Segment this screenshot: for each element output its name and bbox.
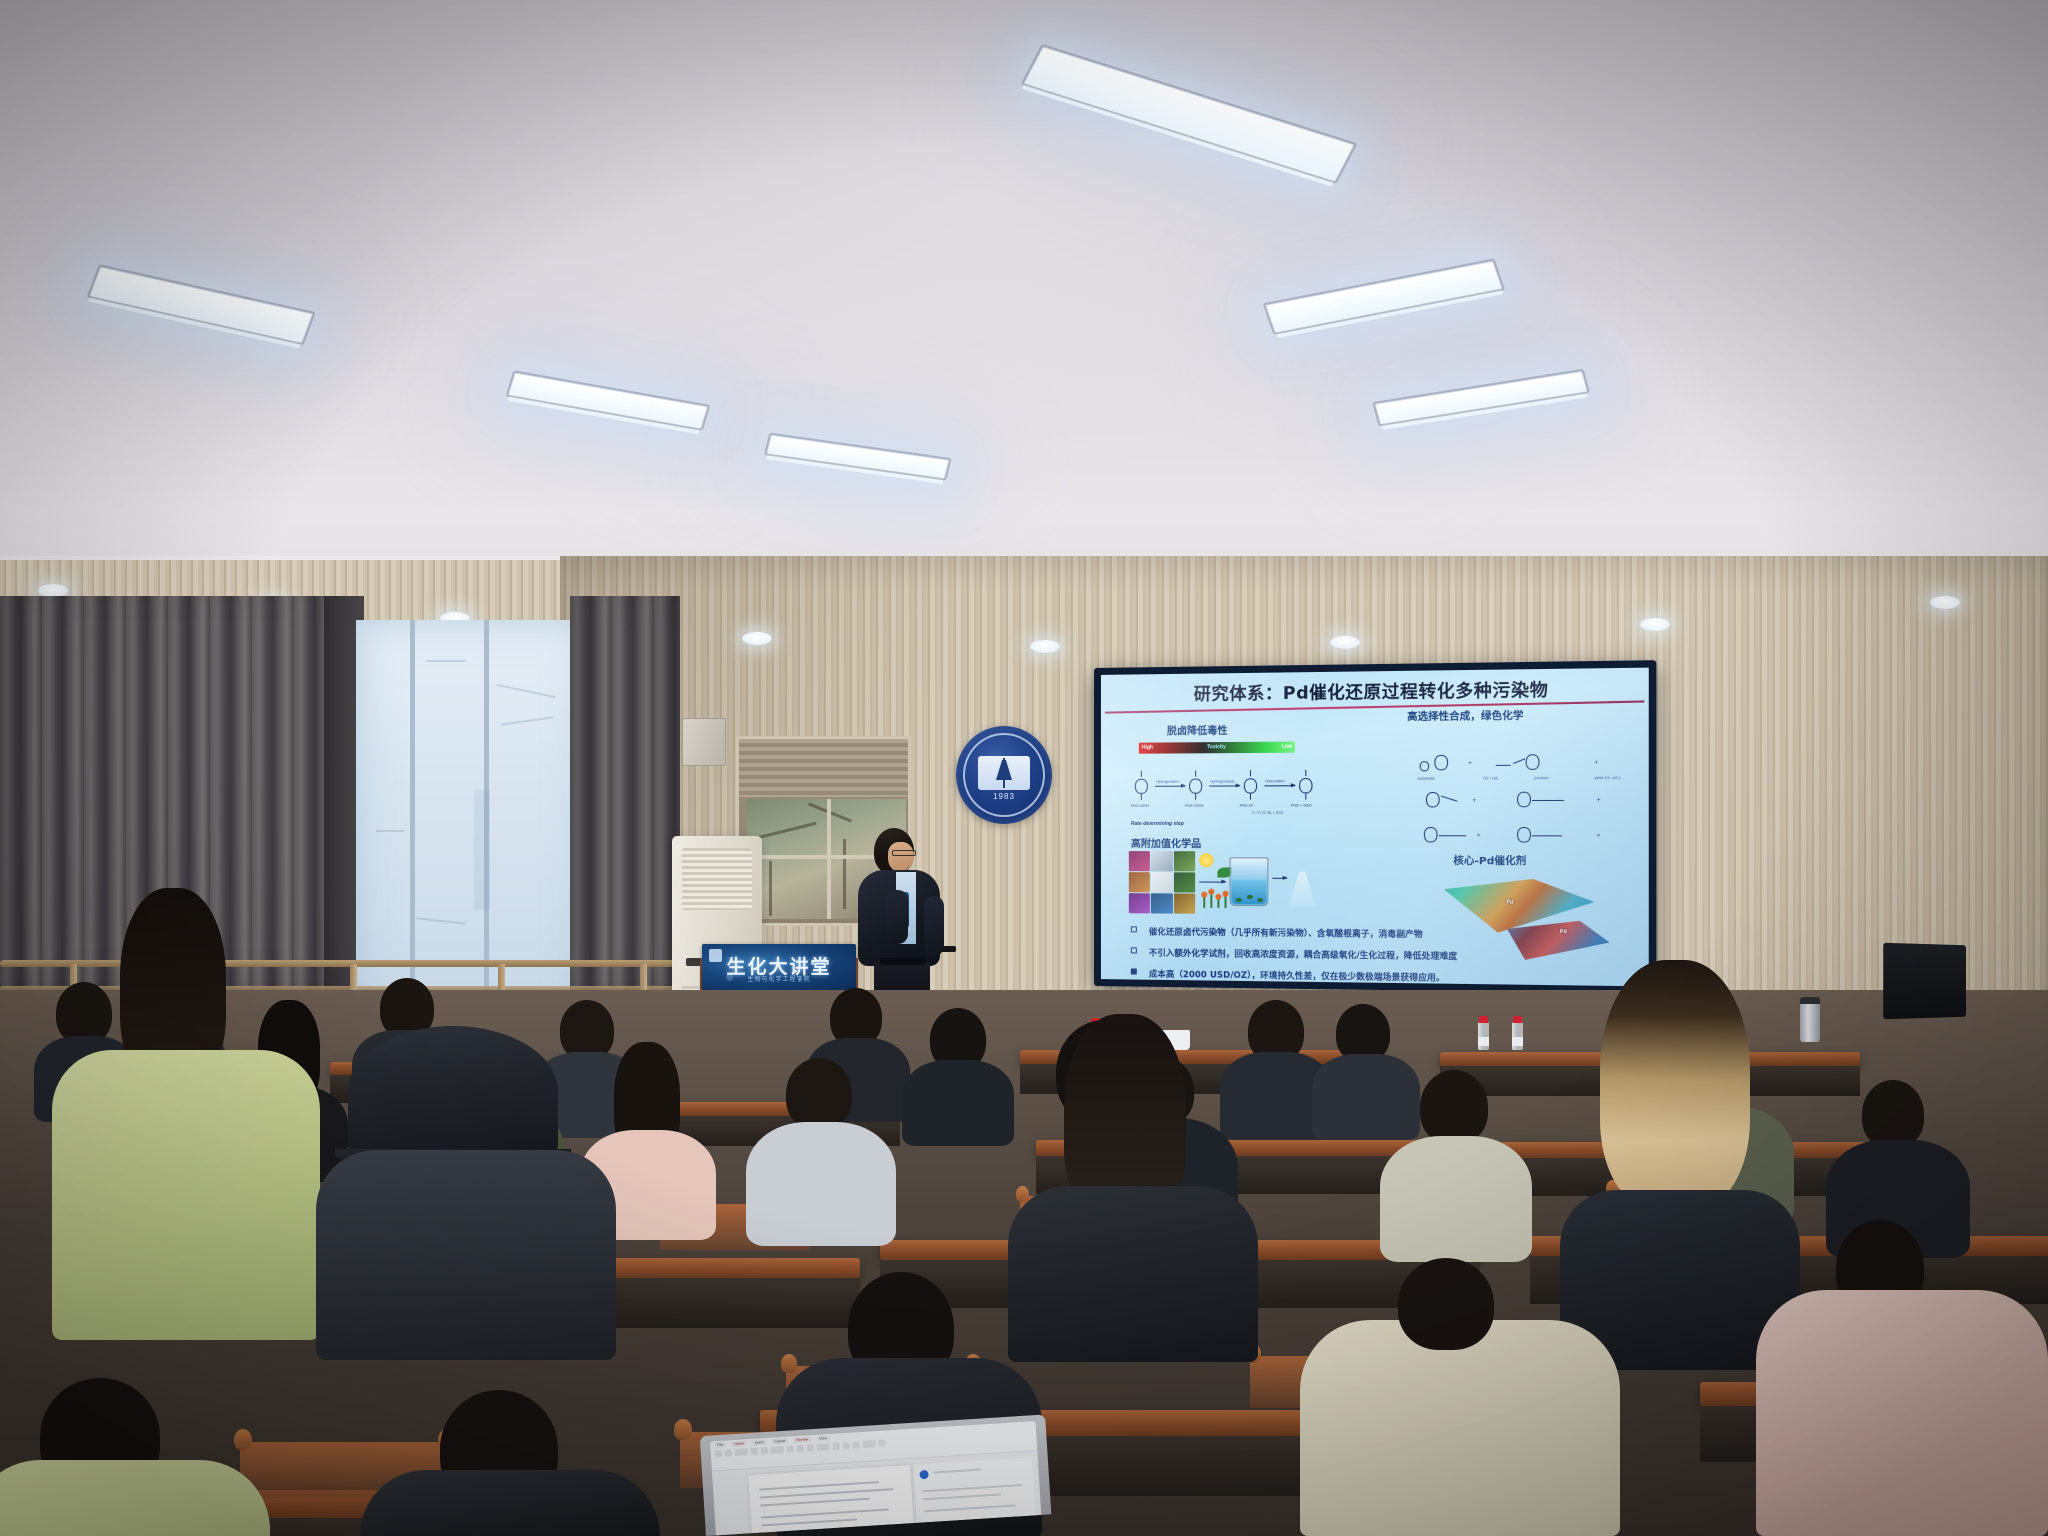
audience-body-green-coat <box>52 1050 320 1340</box>
slide-heading-core-catalyst: 核心-Pd催化剂 <box>1453 852 1526 868</box>
document-page[interactable] <box>748 1465 913 1533</box>
slide-surface: 研究体系：Pd催化还原过程转化多种污染物 脱卤降低毒性 High Toxicit… <box>1101 668 1649 987</box>
conical-flask-icon <box>1289 872 1316 907</box>
ribbon-tab[interactable]: Layout <box>771 1438 788 1445</box>
steel-tumbler <box>1800 1002 1820 1042</box>
audience-body <box>0 1460 270 1536</box>
audience-head <box>560 1000 614 1060</box>
downlight-5 <box>742 632 772 645</box>
molecule-table: substrate H2 / cat. product yield (%, se… <box>1407 729 1638 853</box>
sun-icon <box>1199 853 1213 867</box>
ribbon-tab[interactable]: File <box>714 1442 726 1449</box>
wall-electrical-panel <box>682 718 726 766</box>
audience-body <box>1312 1054 1420 1140</box>
speaker-belt <box>880 958 926 965</box>
water-bottle <box>1478 1022 1489 1050</box>
downlight-9 <box>1930 596 1960 609</box>
control-monitor <box>1883 943 1966 1020</box>
slide-bullet-list: 催化还原卤代污染物（几乎所有新污染物）、含氧酸根离子，消毒副产物 不引入额外化学… <box>1127 925 1631 986</box>
ribbon-tab[interactable]: Insert <box>751 1439 766 1446</box>
projection-screen[interactable]: 研究体系：Pd催化还原过程转化多种污染物 脱卤降低毒性 High Toxicit… <box>1094 660 1656 994</box>
audience-head <box>1398 1258 1494 1350</box>
audience-body <box>1008 1186 1258 1362</box>
slide-heading-dehalogenation: 脱卤降低毒性 <box>1167 722 1228 738</box>
ribbon-tab[interactable]: Home <box>731 1440 747 1447</box>
speaker-face <box>888 842 914 872</box>
beaker-icon <box>1230 857 1269 906</box>
ribbon-tab[interactable]: Review <box>793 1436 811 1443</box>
reaction-footnote: X = F, Cl, Br, I, NO2 <box>1252 811 1283 815</box>
toxicity-label-low: Low <box>1282 744 1292 750</box>
audience-body <box>1380 1136 1532 1262</box>
audience-body <box>316 1150 616 1360</box>
ribbon-tab[interactable]: View <box>816 1435 830 1442</box>
audience-body <box>746 1122 896 1246</box>
audience-head <box>786 1058 852 1130</box>
product-photo-strip <box>1129 851 1195 914</box>
toxicity-label-high: High <box>1142 745 1153 751</box>
side-panel[interactable] <box>912 1457 1035 1522</box>
bullet-text: 催化还原卤代污染物（几乎所有新污染物）、含氧酸根离子，消毒副产物 <box>1149 926 1423 939</box>
presentation-clicker[interactable] <box>940 946 956 952</box>
audience-head <box>56 982 112 1044</box>
speaker <box>852 826 964 1016</box>
audience-body <box>360 1470 660 1536</box>
speaker-arm-left <box>886 890 908 944</box>
species-1: PhX-OOH <box>1131 803 1149 808</box>
audience-body-cream <box>1300 1320 1620 1536</box>
audience-hair-blonde <box>1600 960 1750 1210</box>
speaker-glasses-icon <box>892 850 916 856</box>
user-avatar <box>919 1470 929 1480</box>
toxicity-gradient-bar: High Toxicity Low <box>1139 742 1295 754</box>
bullet-text: 成本高（2000 USD/OZ），环境持久性差，仅在极少数极端场景获得应用。 <box>1149 969 1445 983</box>
audience-head <box>1862 1080 1924 1148</box>
plants-icon <box>1201 892 1229 908</box>
audience-head <box>1420 1070 1488 1144</box>
water-bottle <box>1512 1022 1523 1050</box>
podium-banner-subtitle: 生物与化学工程学院 <box>702 974 856 983</box>
emblem-year: 1983 <box>956 792 1052 801</box>
pd-label-1: Pd <box>1506 900 1513 906</box>
molecule-row: + + <box>1407 745 1638 784</box>
species-2: PhX-OOH <box>1185 803 1203 808</box>
podium-banner: 生化大讲堂 生物与化学工程学院 <box>702 944 856 990</box>
downlight-7 <box>1330 636 1360 649</box>
bullet-text: 不引入额外化学试剂，回收高浓度资源，耦合高级氧化/生化过程，降低处理难度 <box>1149 948 1458 962</box>
university-emblem: 1983 <box>956 726 1052 824</box>
species-3: PhX-O* <box>1240 803 1254 808</box>
audience-black-cap <box>348 1026 558 1156</box>
audience-body <box>902 1060 1014 1146</box>
lecture-hall-photo: 生化大讲堂 生物与化学工程学院 1983 研究体系：Pd催化还原过程转化多种污染… <box>0 0 2048 1536</box>
bullet-item: 成本高（2000 USD/OZ），环境持久性差，仅在极少数极端场景获得应用。 <box>1127 967 1631 986</box>
rate-determining-step-note: Rate-determining step <box>1131 821 1184 827</box>
reaction-scheme: Hydrogenation PhX-OOH Hydrogenolysis PhX… <box>1131 758 1310 815</box>
audience-body-pink <box>1756 1290 2048 1536</box>
toxicity-label-center: Toxicity <box>1207 744 1226 750</box>
slide-heading-selective-synthesis: 高选择性合成，绿色化学 <box>1407 707 1523 724</box>
downlight-6 <box>1030 640 1060 653</box>
molecule-row: + + <box>1407 785 1638 823</box>
downlight-8 <box>1640 618 1670 631</box>
bullet-item: 不引入额外化学试剂，回收高浓度资源，耦合高级氧化/生化过程，降低处理难度 <box>1127 946 1631 964</box>
species-4: PhX + H2O <box>1291 803 1312 808</box>
slide-heading-high-value: 高附加值化学品 <box>1131 835 1201 850</box>
